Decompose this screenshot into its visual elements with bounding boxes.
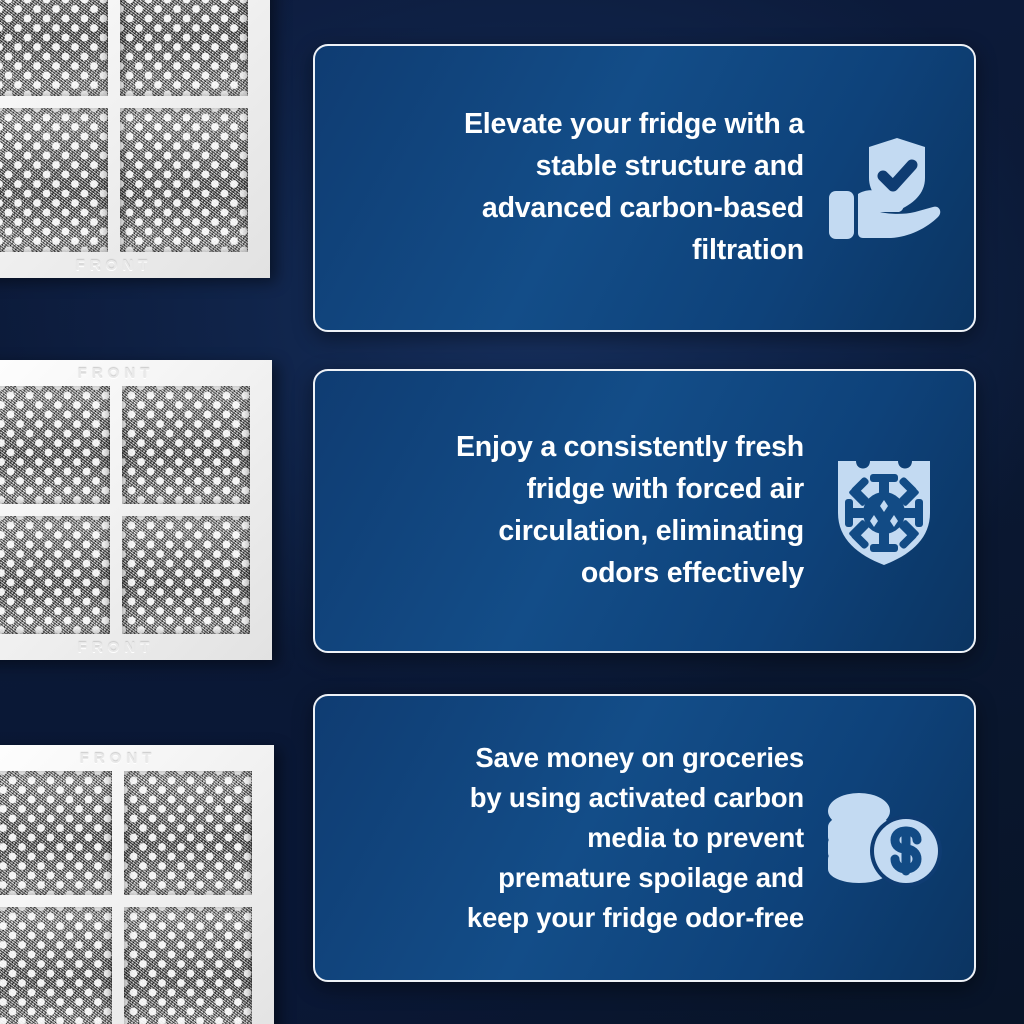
benefit-card-text: Elevate your fridge with a stable struct… [349,104,820,272]
mesh-panel [124,771,252,895]
filter-shot-middle: FRONT FRONT [0,360,272,660]
benefit-card-fresh-fridge: Enjoy a consistently fresh fridge with f… [313,369,976,653]
mesh-panel [124,907,252,1024]
benefit-card-text: Save money on groceries by using activat… [349,738,820,937]
mesh-panel [0,516,110,634]
mesh-panel [122,516,250,634]
mesh-panel [120,0,248,96]
mesh-panel [0,907,112,1024]
mesh-panel [0,771,112,895]
carbon-mesh-grid [0,771,252,1024]
hand-holding-shield-check-icon [820,124,948,252]
mesh-panel [0,0,108,96]
mesh-panel [122,386,250,504]
filter-shot-bottom: FRONT [0,745,274,1024]
benefit-card-text: Enjoy a consistently fresh fridge with f… [349,427,820,595]
infographic-page: FRONT FRONT FRONT FRONT FRONT [0,0,1024,1024]
carbon-mesh-grid [0,386,250,634]
benefit-card-elevate-fridge: Elevate your fridge with a stable struct… [313,44,976,332]
carbon-mesh-grid [0,0,248,252]
benefit-card-save-money: Save money on groceries by using activat… [313,694,976,982]
coins-dollar-icon [820,774,948,902]
product-image-column: FRONT FRONT FRONT FRONT FRONT [0,0,300,1024]
mesh-panel [0,108,108,252]
mesh-panel [120,108,248,252]
shield-germ-icon [820,447,948,575]
mesh-panel [0,386,110,504]
filter-shot-top: FRONT FRONT [0,0,270,278]
